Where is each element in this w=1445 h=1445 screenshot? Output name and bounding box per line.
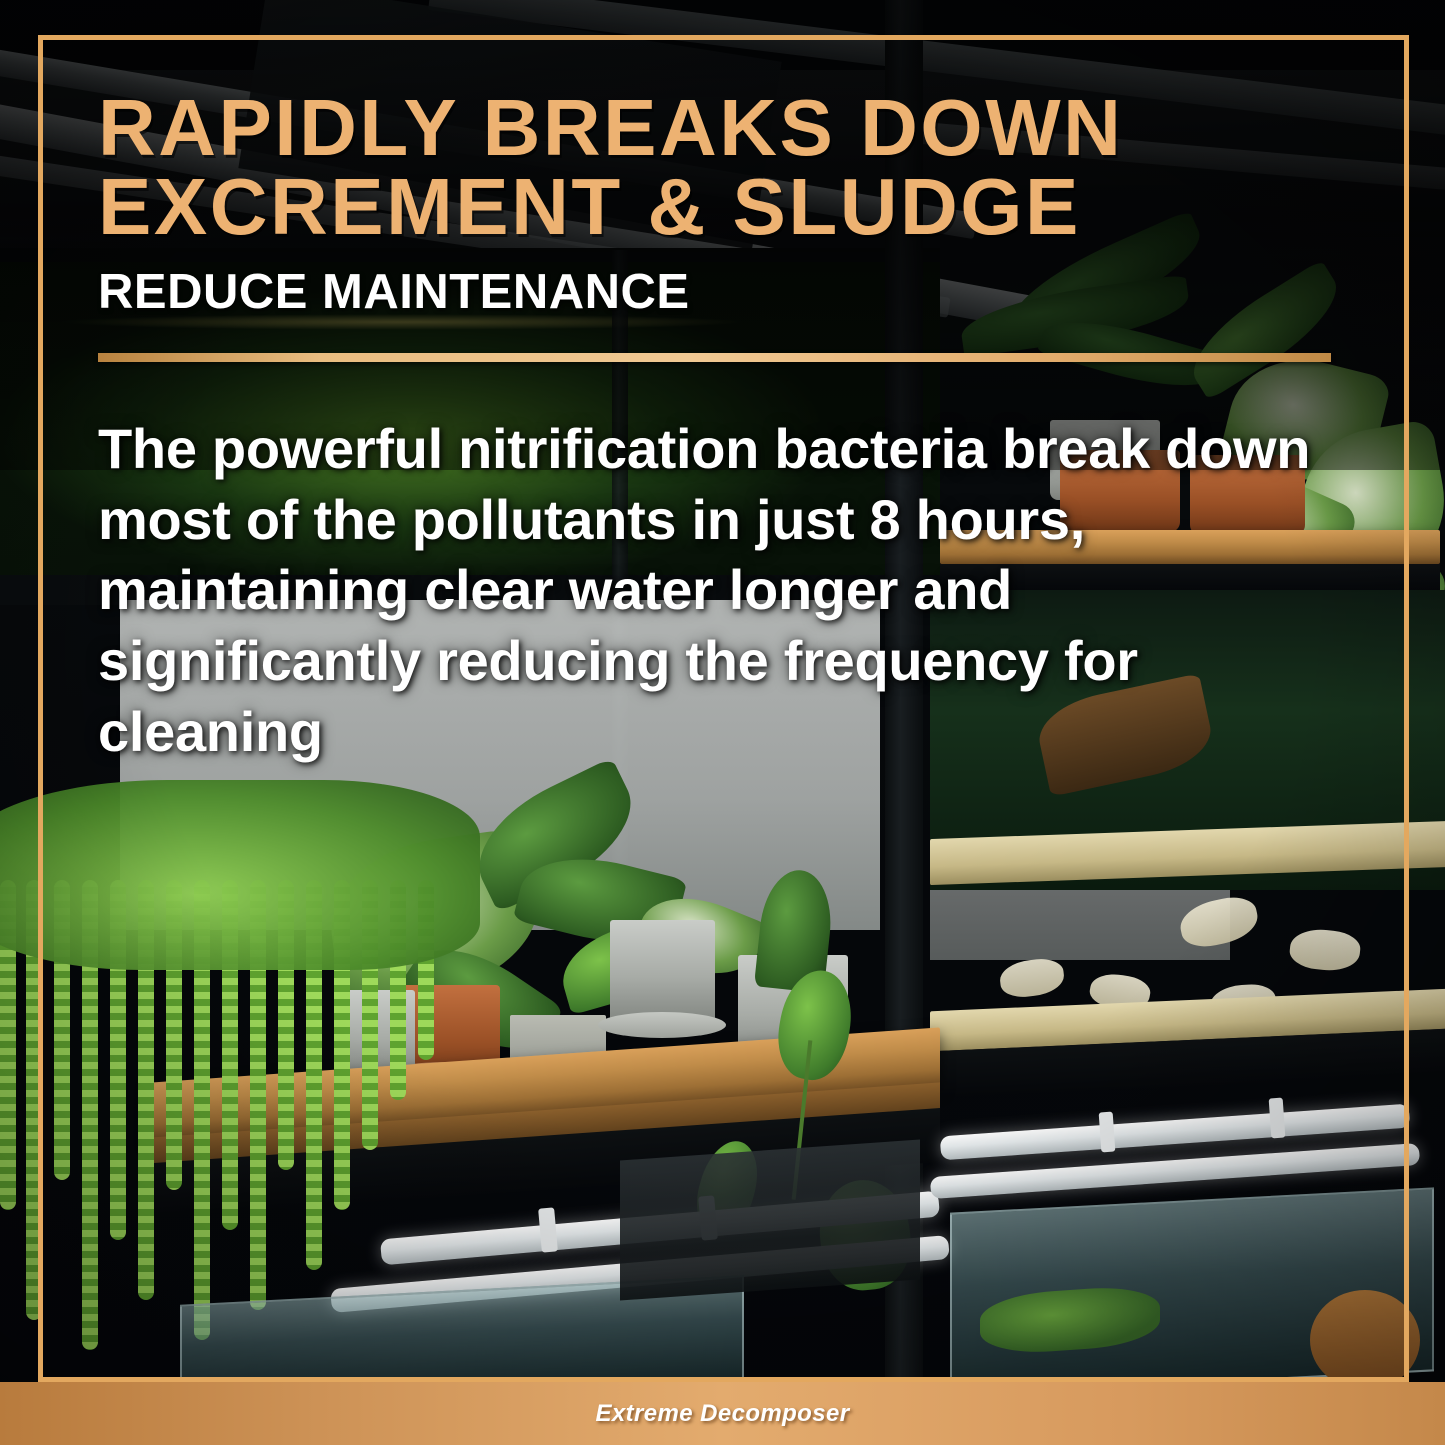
plant-pot xyxy=(610,920,715,1025)
subtitle: REDUCE MAINTENANCE xyxy=(98,268,1343,317)
terracotta-bowl xyxy=(1310,1290,1420,1390)
equipment-tray xyxy=(620,1140,920,1301)
body-paragraph: The powerful nitrification bacteria brea… xyxy=(98,414,1343,767)
pot-saucer xyxy=(598,1012,726,1038)
footer-bar: Extreme Decomposer xyxy=(0,1382,1445,1445)
gold-divider xyxy=(98,353,1331,362)
tube-clip xyxy=(1099,1112,1116,1153)
product-name-label: Extreme Decomposer xyxy=(596,1400,850,1428)
page-title: RAPIDLY BREAKS DOWN EXCREMENT & SLUDGE xyxy=(98,88,1343,246)
promo-poster: RAPIDLY BREAKS DOWN EXCREMENT & SLUDGE R… xyxy=(0,0,1445,1445)
poster-content: RAPIDLY BREAKS DOWN EXCREMENT & SLUDGE R… xyxy=(98,88,1343,823)
tube-clip xyxy=(1269,1098,1286,1139)
